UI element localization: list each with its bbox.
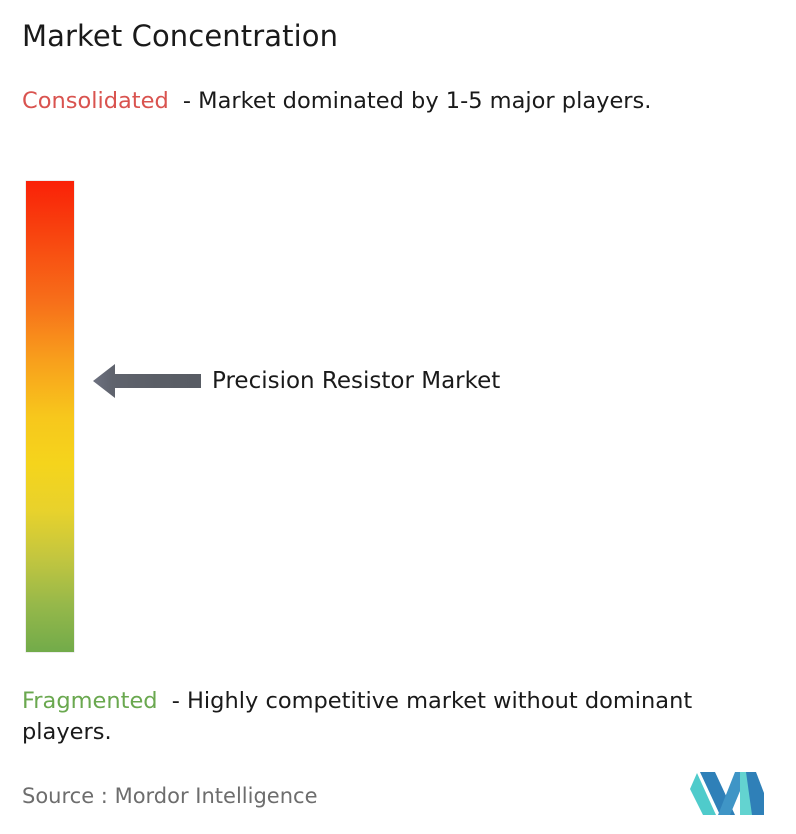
legend-consolidated: Consolidated - Market dominated by 1-5 m… [22,86,772,117]
mordor-intelligence-logo [690,769,764,819]
legend-description-consolidated: - Market dominated by 1-5 major players. [176,88,652,114]
legend-fragmented: Fragmented - Highly competitive market w… [22,686,784,748]
source-label: Source : [22,784,108,808]
source-value: Mordor Intelligence [115,784,318,808]
market-concentration-infographic: Market Concentration Consolidated - Mark… [0,0,796,834]
page-title: Market Concentration [22,19,338,53]
source-line: Source : Mordor Intelligence [22,782,317,810]
concentration-gradient-bar [26,181,74,652]
market-pointer-label: Precision Resistor Market [212,367,500,395]
legend-term-fragmented: Fragmented [22,688,158,714]
arrow-left-icon [93,362,201,400]
market-pointer: Precision Resistor Market [93,362,500,400]
legend-term-consolidated: Consolidated [22,88,169,114]
